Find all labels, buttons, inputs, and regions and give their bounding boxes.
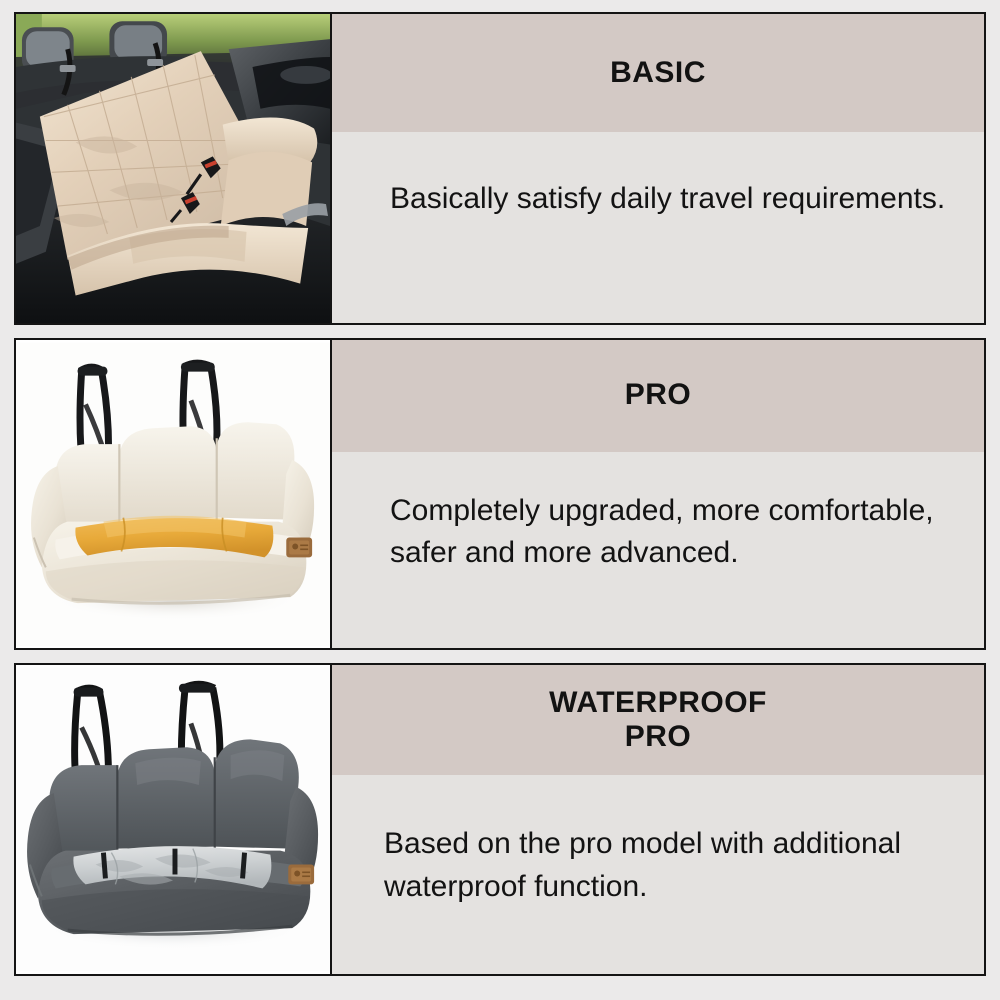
waterproof-photo-illustration <box>16 665 330 974</box>
pro-info-cell: PRO Completely upgraded, more comfortabl… <box>332 340 984 649</box>
pro-description-wrap: Completely upgraded, more comfortable, s… <box>332 452 984 649</box>
product-row-waterproof-pro: WATERPROOF PRO Based on the pro model wi… <box>14 663 986 976</box>
basic-info-cell: BASIC Basically satisfy daily travel req… <box>332 14 984 323</box>
product-row-basic: BASIC Basically satisfy daily travel req… <box>14 12 986 325</box>
waterproof-pro-pet-car-bed-photo <box>16 665 332 974</box>
comparison-board: BASIC Basically satisfy daily travel req… <box>0 0 1000 1000</box>
pro-pet-car-bed-photo <box>16 340 332 649</box>
basic-photo-illustration <box>16 14 330 323</box>
pro-title-band: PRO <box>332 340 984 452</box>
basic-title-band: BASIC <box>332 14 984 132</box>
basic-description: Basically satisfy daily travel requireme… <box>390 178 945 221</box>
basic-car-seat-cover-photo <box>16 14 332 323</box>
waterproof-pro-description-wrap: Based on the pro model with additional w… <box>332 775 984 974</box>
pro-description: Completely upgraded, more comfortable, s… <box>390 490 950 575</box>
brand-tag <box>288 865 314 885</box>
brand-tag <box>286 537 312 557</box>
waterproof-pro-description: Based on the pro model with additional w… <box>384 823 958 908</box>
product-row-pro: PRO Completely upgraded, more comfortabl… <box>14 338 986 651</box>
pro-photo-illustration <box>16 340 330 649</box>
basic-title: BASIC <box>610 56 706 91</box>
pro-title: PRO <box>625 378 692 413</box>
waterproof-pro-title: WATERPROOF PRO <box>549 686 767 756</box>
waterproof-pro-title-band: WATERPROOF PRO <box>332 665 984 775</box>
waterproof-pro-info-cell: WATERPROOF PRO Based on the pro model wi… <box>332 665 984 974</box>
basic-description-wrap: Basically satisfy daily travel requireme… <box>332 132 984 323</box>
